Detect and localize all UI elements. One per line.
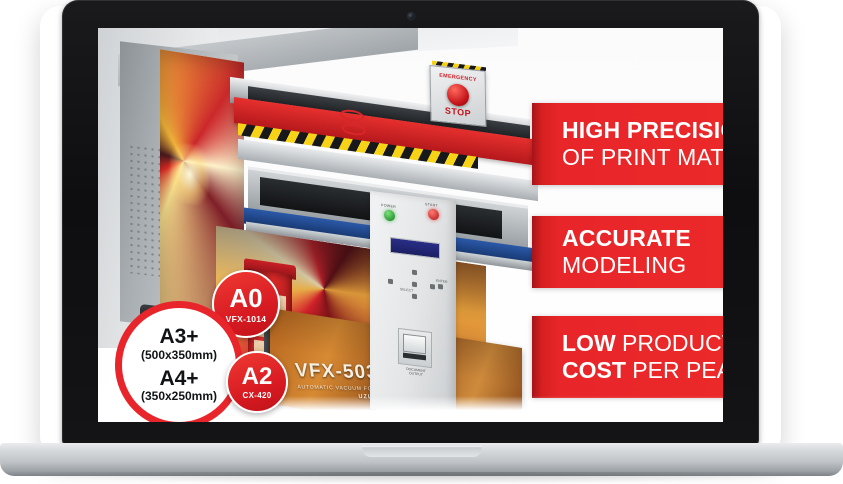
start-led-red-icon — [428, 208, 439, 220]
badge-formats[interactable]: A3+ (500x350mm) A4+ (350x250mm) — [115, 301, 243, 422]
banner-2-regular: MODELING — [562, 252, 723, 279]
badge-format-dims-1: (500x350mm) — [141, 349, 217, 363]
keypad-center-button[interactable] — [412, 282, 417, 288]
laptop-lid: VFX-5035 AUTOMATIC VACUUM FORMING MACHIN… — [62, 0, 759, 446]
badge-format-size-2: A4+ — [159, 368, 198, 389]
badge-a0-model: VFX-1014 — [226, 314, 267, 324]
keypad-up-button[interactable] — [412, 270, 417, 276]
keypad-right-button[interactable] — [430, 284, 435, 290]
banner-3-line-1: LOW PRODUCTION — [562, 330, 723, 357]
banner-3-line-2: COST PER PEACE — [562, 357, 723, 384]
banner-3-rest-2: PER PEACE — [626, 357, 723, 383]
banner-2-bold: ACCURATE — [562, 225, 723, 252]
banner-1-bold: HIGH PRECISION — [562, 117, 723, 144]
feature-banner-low-cost[interactable]: LOW PRODUCTION COST PER PEACE — [532, 316, 723, 398]
keypad-left-button[interactable] — [388, 279, 393, 285]
feature-banner-high-precision[interactable]: HIGH PRECISION OF PRINT MATCHING — [532, 103, 723, 185]
webcam-dot-icon — [408, 13, 414, 19]
badge-a0-size: A0 — [229, 285, 262, 311]
badge-a2-size: A2 — [242, 365, 273, 389]
banner-3-rest-1: PRODUCTION — [616, 330, 723, 356]
laptop-ground-shadow — [0, 472, 843, 484]
feature-banner-accurate-modeling[interactable]: ACCURATE MODELING — [532, 216, 723, 288]
keypad-select-label: SELECT — [400, 287, 413, 293]
screen-photo: VFX-5035 AUTOMATIC VACUUM FORMING MACHIN… — [98, 28, 723, 422]
banner-3-bold-2: COST — [562, 357, 626, 383]
document-output-slot — [403, 334, 426, 355]
badge-a2-model: CX-420 — [243, 391, 272, 400]
badge-format-size-1: A3+ — [159, 326, 198, 347]
badge-format-dims-2: (350x250mm) — [141, 390, 217, 404]
screenshot-root: VFX-5035 AUTOMATIC VACUUM FORMING MACHIN… — [0, 0, 843, 484]
control-keypad: SELECT ENTER — [386, 264, 444, 307]
laptop-screen: VFX-5035 AUTOMATIC VACUUM FORMING MACHIN… — [98, 28, 723, 422]
banner-3-bold-1: LOW — [562, 330, 616, 356]
keypad-enter-button[interactable] — [438, 284, 443, 290]
banner-1-regular: OF PRINT MATCHING — [562, 144, 723, 171]
power-led-green-icon — [384, 209, 395, 221]
badge-a2[interactable]: A2 CX-420 — [226, 351, 288, 413]
keypad-down-button[interactable] — [412, 294, 417, 300]
laptop-base-notch — [362, 446, 482, 457]
